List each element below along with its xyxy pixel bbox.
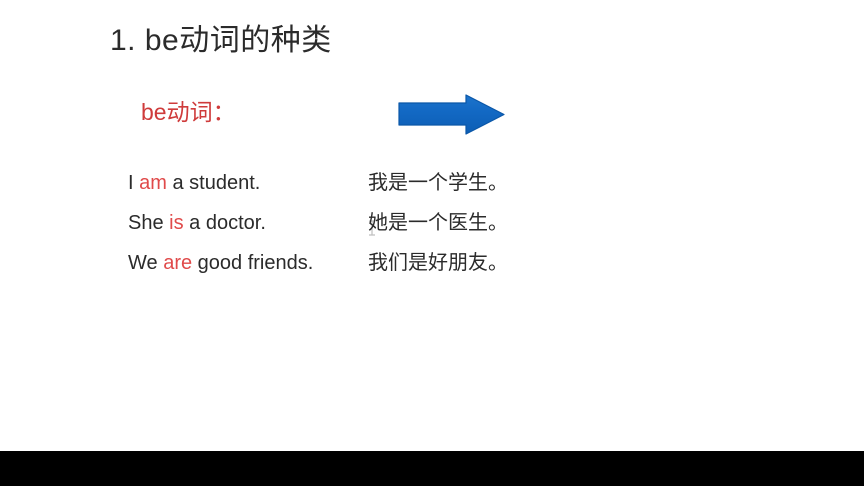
sentence-suffix: good friends. [192,252,313,274]
slide-canvas: 1. be动词的种类 be动词： I am a student. 我是一个 [0,0,864,451]
sentence-english: I am a student. [128,168,260,198]
example-row: I am a student. 我是一个学生。 [128,168,688,208]
sentence-prefix: I [128,172,139,194]
sentence-english: We are good friends. [128,248,313,278]
sentence-prefix: We [128,252,163,274]
example-sentence-list: I am a student. 我是一个学生。 She is a doctor.… [128,168,688,288]
slide-root: 1. be动词的种类 be动词： I am a student. 我是一个 [0,0,864,486]
letterbox-bottom-bar [0,451,864,486]
be-verb-highlight: is [169,212,183,234]
sentence-suffix: a student. [167,172,260,194]
sentence-chinese: 我是一个学生。 [368,168,508,198]
sentence-chinese: 我们是好朋友。 [368,248,508,278]
subtitle-be-verb: be动词： [141,96,236,128]
example-row: We are good friends. 我们是好朋友。 [128,248,688,288]
be-verb-highlight: am [139,172,167,194]
page-title: 1. be动词的种类 [110,22,332,60]
be-verb-highlight: are [163,252,192,274]
sentence-english: She is a doctor. [128,208,266,238]
right-block-arrow-shape [396,92,508,138]
text-ibeam-cursor-shape [367,220,377,236]
sentence-suffix: a doctor. [184,212,266,234]
right-block-arrow-icon [396,92,508,138]
sentence-chinese: 她是一个医生。 [368,208,508,238]
example-row: She is a doctor. 她是一个医生。 [128,208,688,248]
text-ibeam-cursor-icon [367,220,377,236]
sentence-prefix: She [128,212,169,234]
